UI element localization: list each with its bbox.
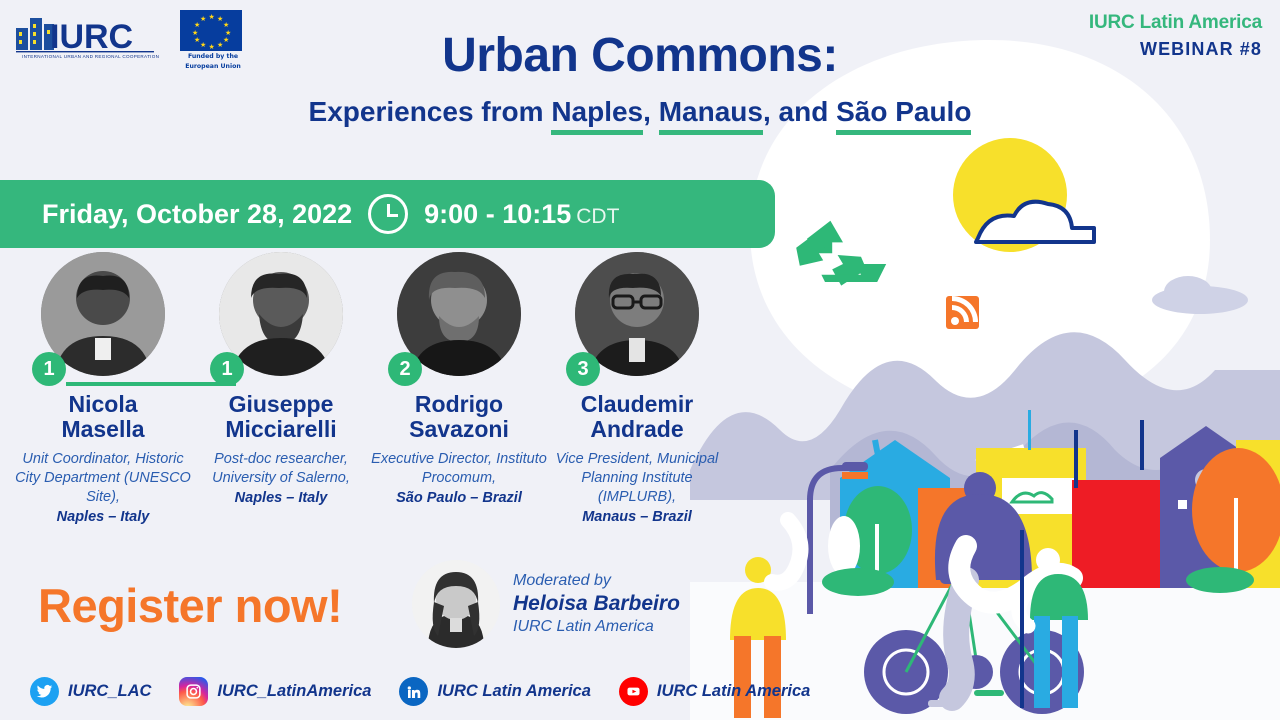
subtitle-sep2: , and	[763, 96, 836, 127]
social-links-bar: IURC_LAC IURC_LatinAmerica IURC Latin Am…	[30, 677, 810, 706]
speaker-role-text: Post-doc researcher, University of Saler…	[212, 451, 350, 486]
city-sao-paulo: São Paulo	[836, 96, 971, 128]
speaker-name: Nicola Masella	[14, 392, 192, 442]
speaker-role: Executive Director, Instituto Procomum, …	[370, 450, 548, 508]
city-naples: Naples	[551, 96, 643, 128]
speaker-badge: 1	[210, 352, 244, 386]
register-now-cta[interactable]: Register now!	[38, 578, 342, 633]
speaker-role: Post-doc researcher, University of Saler…	[192, 450, 370, 508]
speakers-row: 1 Nicola Masella Unit Coordinator, Histo…	[14, 252, 729, 527]
social-instagram[interactable]: IURC_LatinAmerica	[179, 677, 371, 706]
speaker-name: Claudemir Andrade	[548, 392, 726, 442]
speaker-first-name: Giuseppe	[229, 391, 334, 417]
speaker-role: Unit Coordinator, Historic City Departme…	[14, 450, 192, 528]
social-twitter[interactable]: IURC_LAC	[30, 677, 151, 706]
instagram-handle: IURC_LatinAmerica	[217, 682, 371, 701]
page-title: Urban Commons:	[0, 28, 1280, 83]
speaker-first-name: Rodrigo	[415, 391, 503, 417]
speaker-role: Vice President, Municipal Planning Insti…	[548, 450, 726, 528]
moderator-prefix: Moderated by	[513, 572, 680, 590]
speaker-city: Naples – Italy	[192, 489, 370, 508]
speaker-city: Naples – Italy	[14, 508, 192, 527]
twitter-handle: IURC_LAC	[68, 682, 151, 701]
moderator-text: Moderated by Heloisa Barbeiro IURC Latin…	[513, 572, 680, 636]
social-youtube[interactable]: IURC Latin America	[619, 677, 810, 706]
speaker-name: Rodrigo Savazoni	[370, 392, 548, 442]
speaker-card: 1 Nicola Masella Unit Coordinator, Histo…	[14, 252, 192, 527]
subtitle-prefix: Experiences from	[309, 96, 552, 127]
speaker-city: Manaus – Brazil	[548, 508, 726, 527]
event-time-value: 9:00 - 10:15	[424, 199, 571, 229]
speaker-badge: 3	[566, 352, 600, 386]
speaker-last-name: Andrade	[590, 416, 683, 442]
instagram-icon[interactable]	[179, 677, 208, 706]
moderator-org: IURC Latin America	[513, 618, 680, 636]
poster-canvas: IURC INTERNATIONAL URBAN AND REGIONAL CO…	[0, 0, 1280, 720]
clock-icon	[368, 194, 408, 234]
moderator-block: Moderated by Heloisa Barbeiro IURC Latin…	[412, 560, 680, 648]
speaker-badge: 2	[388, 352, 422, 386]
speaker-city: São Paulo – Brazil	[370, 489, 548, 508]
moderator-name: Heloisa Barbeiro	[513, 592, 680, 616]
city-manaus: Manaus	[659, 96, 763, 128]
rss-icon	[946, 296, 979, 329]
speaker-badge: 1	[32, 352, 66, 386]
date-time-banner: Friday, October 28, 2022 9:00 - 10:15CDT	[0, 180, 775, 248]
linkedin-handle: IURC Latin America	[437, 682, 590, 701]
speaker-role-text: Unit Coordinator, Historic City Departme…	[15, 451, 191, 505]
linkedin-icon[interactable]	[399, 677, 428, 706]
event-time: 9:00 - 10:15CDT	[424, 199, 619, 230]
speaker-last-name: Masella	[61, 416, 144, 442]
event-date: Friday, October 28, 2022	[42, 199, 352, 230]
speaker-role-text: Executive Director, Instituto Procomum,	[371, 451, 547, 486]
youtube-handle: IURC Latin America	[657, 682, 810, 701]
speaker-first-name: Claudemir	[581, 391, 693, 417]
moderator-avatar	[412, 560, 500, 648]
subtitle-sep1: ,	[643, 96, 659, 127]
twitter-icon[interactable]	[30, 677, 59, 706]
event-timezone: CDT	[576, 205, 619, 228]
speaker-card: 3 Claudemir Andrade Vice President, Muni…	[548, 252, 726, 527]
speaker-first-name: Nicola	[68, 391, 137, 417]
speaker-card: 2 Rodrigo Savazoni Executive Director, I…	[370, 252, 548, 527]
page-subtitle: Experiences from Naples, Manaus, and São…	[0, 96, 1280, 128]
speaker-last-name: Micciarelli	[225, 416, 336, 442]
speaker-name: Giuseppe Micciarelli	[192, 392, 370, 442]
social-linkedin[interactable]: IURC Latin America	[399, 677, 590, 706]
speaker-card: 1 Giuseppe Micciarelli Post-doc research…	[192, 252, 370, 527]
speaker-last-name: Savazoni	[409, 416, 509, 442]
youtube-icon[interactable]	[619, 677, 648, 706]
speaker-role-text: Vice President, Municipal Planning Insti…	[556, 451, 719, 505]
